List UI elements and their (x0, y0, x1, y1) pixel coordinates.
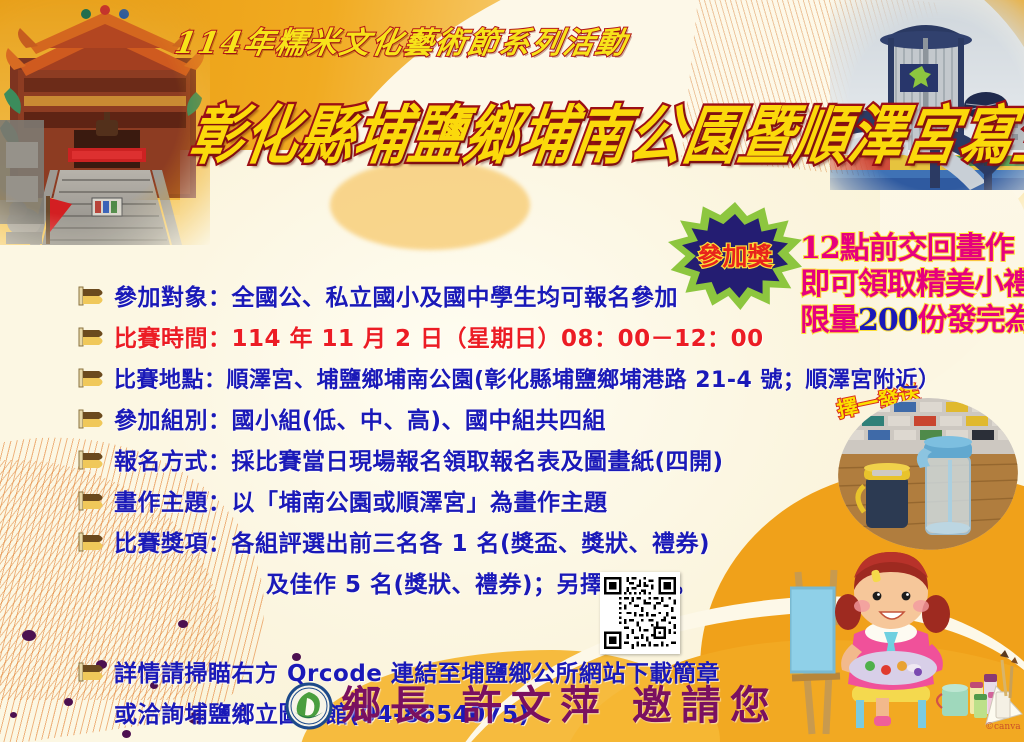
flag-bullet-icon (78, 449, 108, 471)
detail-row-spacer (78, 606, 868, 654)
detail-text: 參加組別：國小組(低、中、高)、國中組共四組 (114, 401, 606, 442)
flag-bullet-icon (78, 408, 108, 430)
award-badge-label: 參加獎 (682, 240, 788, 274)
confetti-dot (64, 698, 73, 706)
poster-root: 114年糯米文化藝術節系列活動 彰化縣埔鹽鄉埔南公園暨順澤宮寫生比賽 參加獎 1… (0, 0, 1024, 742)
confetti-dot (10, 712, 17, 718)
detail-text: 畫作主題：以「埔南公園或順澤宮」為畫作主題 (114, 483, 608, 524)
detail-text: 參加對象：全國公、私立國小及國中學生均可報名參加 (114, 278, 678, 319)
promo-line-1: 12點前交回畫作 (800, 232, 1024, 266)
detail-text: 比賽地點：順澤宮、埔鹽鄉埔南公園(彰化縣埔鹽鄉埔港路 21-4 號；順澤宮附近） (114, 360, 940, 401)
credit-watermark: ©canva (985, 722, 1021, 732)
qrcode[interactable] (600, 572, 680, 654)
detail-row-prizes: 比賽獎項：各組評選出前三名各 1 名(獎盃、獎狀、禮券) (78, 524, 868, 565)
detail-row-participants: 參加對象：全國公、私立國小及國中學生均可報名參加 (78, 278, 868, 319)
details-list: 參加對象：全國公、私立國小及國中學生均可報名參加 比賽時間：114 年 11 月… (78, 278, 868, 736)
flag-bullet-icon (78, 326, 108, 348)
footer-invite: 鄉長 許文萍 邀請您 (285, 678, 805, 734)
detail-row-registration: 報名方式：採比賽當日現場報名領取報名表及圖畫紙(四開) (78, 442, 868, 483)
township-logo-icon (285, 682, 333, 730)
flag-bullet-icon (78, 367, 108, 389)
flag-bullet-icon (78, 661, 108, 683)
promo-line-3-suffix: 份發完為止 (918, 303, 1024, 338)
flag-bullet-icon (78, 531, 108, 553)
flag-bullet-icon (78, 490, 108, 512)
detail-text: 報名方式：採比賽當日現場報名領取報名表及圖畫紙(四開) (114, 442, 724, 483)
footer-text: 鄉長 許文萍 邀請您 (341, 678, 779, 734)
confetti-dot (22, 630, 36, 641)
detail-text: 比賽時間：114 年 11 月 2 日（星期日）08：00－12：00 (114, 319, 764, 360)
poster-title: 彰化縣埔鹽鄉埔南公園暨順澤宮寫生比賽 (183, 88, 838, 182)
detail-text: 比賽獎項：各組評選出前三名各 1 名(獎盃、獎狀、禮券) (114, 524, 710, 565)
girl-painting-illustration (790, 548, 1024, 742)
detail-row-theme: 畫作主題：以「埔南公園或順澤宮」為畫作主題 (78, 483, 868, 524)
flag-bullet-icon (78, 285, 108, 307)
poster-subtitle: 114年糯米文化藝術節系列活動 (171, 20, 699, 68)
detail-row-prizes-cont: 及佳作 5 名(獎狀、禮券)；另擇期評審。 (78, 565, 868, 606)
detail-row-groups: 參加組別：國小組(低、中、高)、國中組共四組 (78, 401, 868, 442)
detail-row-time: 比賽時間：114 年 11 月 2 日（星期日）08：00－12：00 (78, 319, 868, 360)
detail-row-location: 比賽地點：順澤宮、埔鹽鄉埔南公園(彰化縣埔鹽鄉埔港路 21-4 號；順澤宮附近） (78, 360, 868, 401)
